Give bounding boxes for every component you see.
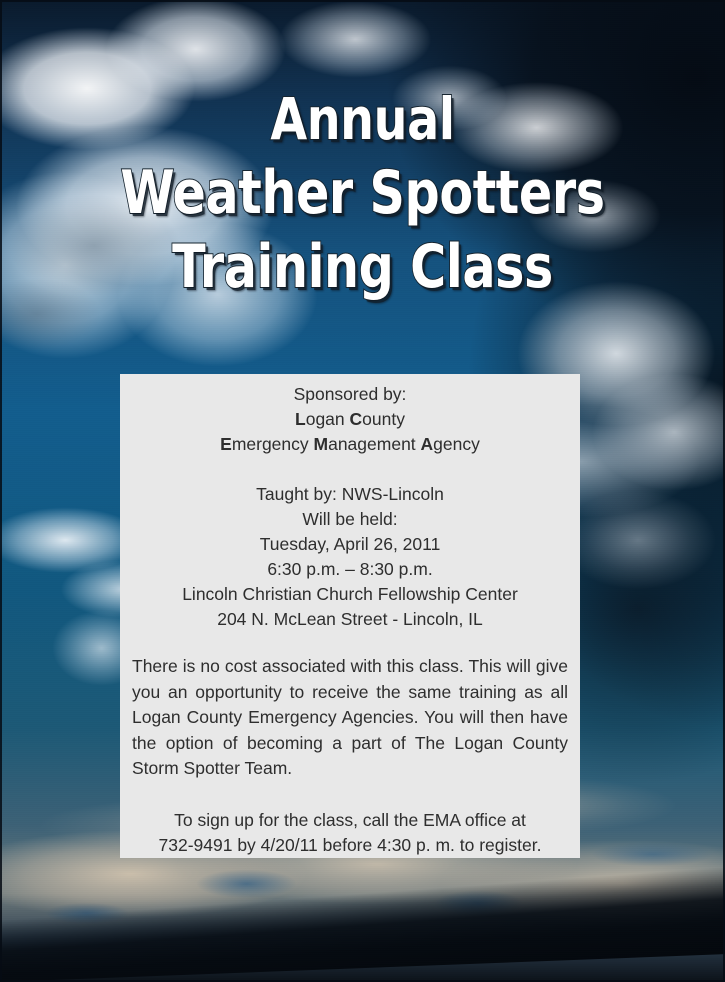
signup-line-2: 732-9491 by 4/20/11 before 4:30 p. m. to… <box>132 833 568 859</box>
sponsor-cap-A: A <box>421 434 434 454</box>
title-line-2: Weather Spotters <box>65 156 660 230</box>
event-date: Tuesday, April 26, 2011 <box>130 532 570 557</box>
signup-paragraph: To sign up for the class, call the EMA o… <box>130 808 570 859</box>
sponsor-text-mergency: mergency <box>232 434 314 454</box>
taught-by-line: Taught by: NWS-Lincoln <box>130 482 570 507</box>
sponsor-cap-E: E <box>220 434 232 454</box>
sponsor-cap-L: L <box>295 409 306 429</box>
page-title: Annual Weather Spotters Training Class <box>0 82 725 304</box>
information-panel: Sponsored by: Logan County Emergency Man… <box>120 374 580 858</box>
event-time: 6:30 p.m. – 8:30 p.m. <box>130 557 570 582</box>
sponsor-text-gency: gency <box>433 434 480 454</box>
description-paragraph: There is no cost associated with this cl… <box>130 654 570 782</box>
sponsor-cap-M: M <box>314 434 329 454</box>
flyer-page: Annual Weather Spotters Training Class S… <box>0 0 725 982</box>
sponsor-text-ogan: ogan <box>306 409 350 429</box>
signup-line-1: To sign up for the class, call the EMA o… <box>132 808 568 834</box>
will-be-held-line: Will be held: <box>130 507 570 532</box>
sponsor-organization-line-2: Emergency Management Agency <box>130 432 570 457</box>
event-address: 204 N. McLean Street - Lincoln, IL <box>130 607 570 632</box>
title-line-3: Training Class <box>65 230 660 304</box>
sponsor-cap-C: C <box>350 409 363 429</box>
sponsor-organization-line-1: Logan County <box>130 407 570 432</box>
sponsor-block: Sponsored by: Logan County Emergency Man… <box>130 382 570 632</box>
event-venue: Lincoln Christian Church Fellowship Cent… <box>130 582 570 607</box>
sponsor-text-anagement: anagement <box>328 434 420 454</box>
title-line-1: Annual <box>65 82 660 156</box>
block-spacer <box>130 457 570 482</box>
sponsor-text-ounty: ounty <box>362 409 405 429</box>
sponsor-label: Sponsored by: <box>130 382 570 407</box>
